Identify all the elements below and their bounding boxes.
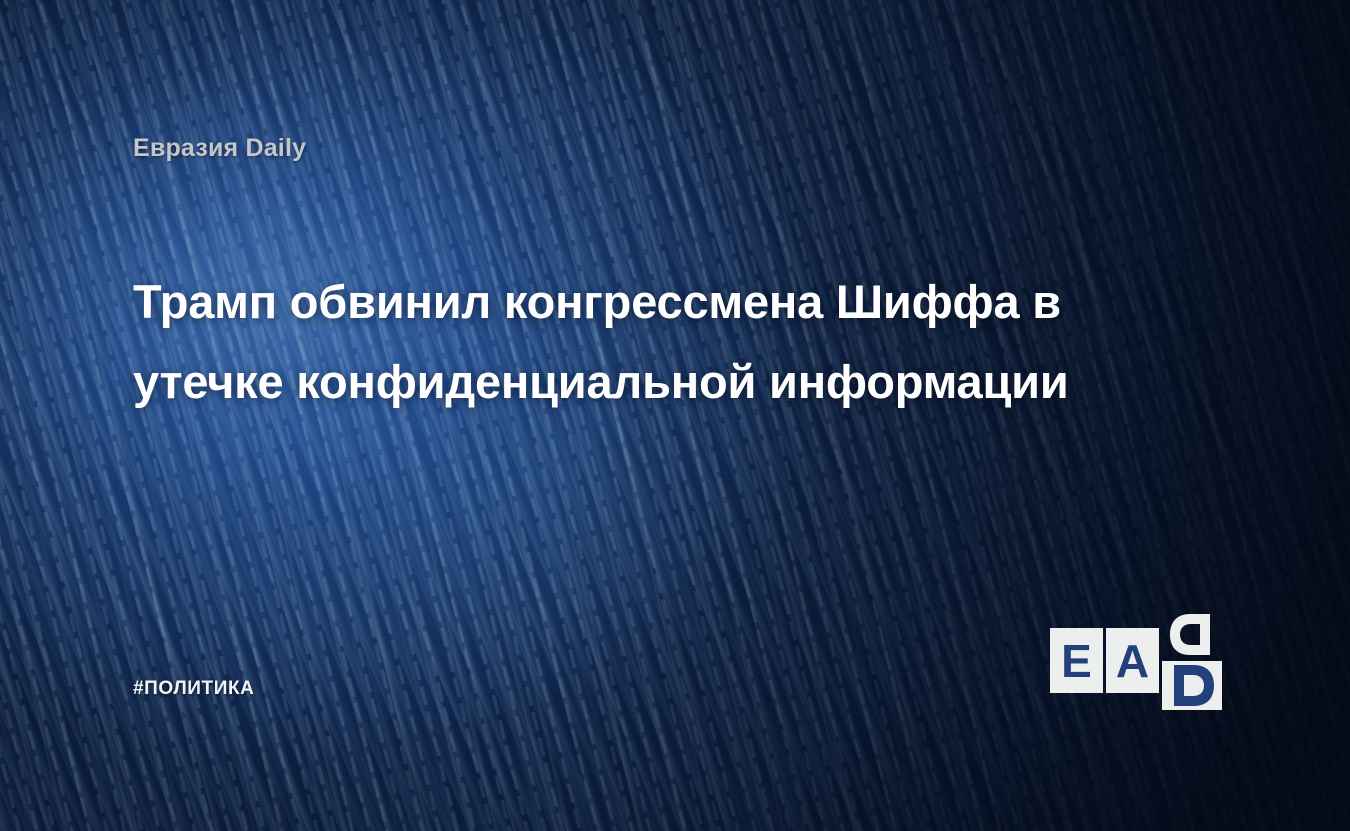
logo-d-icon — [1162, 661, 1222, 710]
logo-d-rotated-icon — [1162, 610, 1222, 659]
logo-tile-e: Е — [1050, 628, 1103, 693]
category-hashtag: #ПОЛИТИКА — [133, 678, 255, 700]
logo-tile-a: А — [1106, 628, 1159, 693]
publisher-name: Евразия Daily — [133, 134, 306, 163]
logo-d-stack — [1162, 610, 1222, 710]
page-title: Трамп обвинил конгрессмена Шиффа в утечк… — [133, 262, 1183, 422]
eadaily-logo: Е А — [1050, 628, 1222, 693]
social-share-card: Евразия Daily Трамп обвинил конгрессмена… — [0, 0, 1350, 831]
